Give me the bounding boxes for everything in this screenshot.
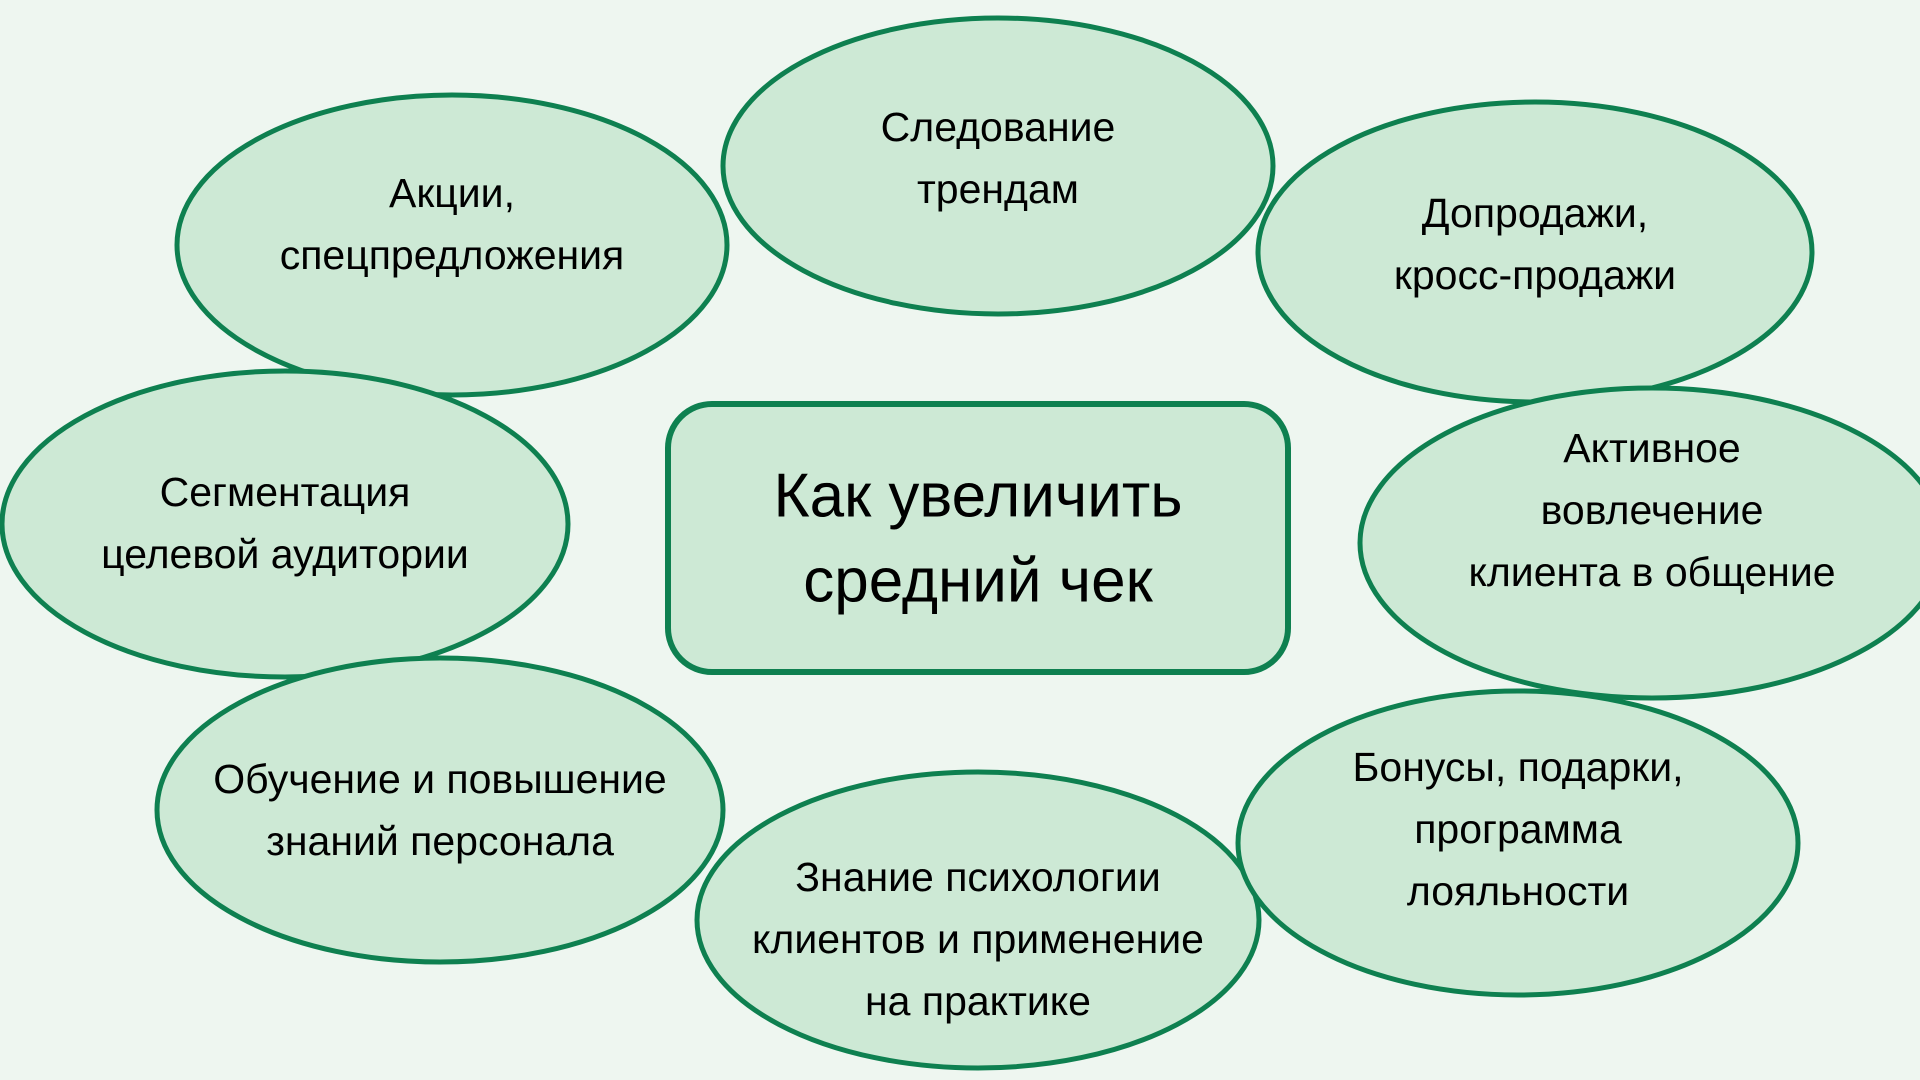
node-psihologiya[interactable]: Знание психологии клиентов и применение … xyxy=(697,772,1259,1068)
node-doprodazhi-line-1: Допродажи, xyxy=(1422,190,1648,236)
node-vovlechenie[interactable]: Активное вовлечение клиента в общение xyxy=(1360,388,1920,698)
node-trendy-line-1: Следование xyxy=(881,104,1116,150)
node-vovlechenie-line-2: вовлечение xyxy=(1541,487,1764,533)
node-obuchenie-line-2: знаний персонала xyxy=(266,818,614,864)
node-trendy[interactable]: Следование трендам xyxy=(723,18,1273,314)
node-psihologiya-line-3: на практике xyxy=(865,978,1091,1024)
diagram-canvas: Акции, спецпредложения Следование тренда… xyxy=(0,0,1920,1080)
node-segmentaciya-ellipse[interactable] xyxy=(2,371,568,677)
node-obuchenie-line-1: Обучение и повышение xyxy=(213,756,666,802)
center-node-line-2: средний чек xyxy=(803,546,1153,615)
node-bonusy-line-2: программа xyxy=(1414,806,1622,852)
mindmap-diagram: Акции, спецпредложения Следование тренда… xyxy=(0,0,1920,1080)
node-vovlechenie-line-3: клиента в общение xyxy=(1468,549,1835,595)
center-node[interactable]: Как увеличить средний чек xyxy=(668,404,1288,672)
node-psihologiya-line-2: клиентов и применение xyxy=(752,916,1204,962)
node-segmentaciya-line-2: целевой аудитории xyxy=(101,531,469,577)
node-akcii-line-2: спецпредложения xyxy=(280,232,625,278)
node-akcii-line-1: Акции, xyxy=(389,170,515,216)
node-segmentaciya[interactable]: Сегментация целевой аудитории xyxy=(2,371,568,677)
node-obuchenie[interactable]: Обучение и повышение знаний персонала xyxy=(157,658,723,962)
node-akcii[interactable]: Акции, спецпредложения xyxy=(177,95,727,395)
center-node-line-1: Как увеличить xyxy=(773,461,1182,530)
node-doprodazhi[interactable]: Допродажи, кросс-продажи xyxy=(1258,102,1812,402)
center-node-box[interactable] xyxy=(668,404,1288,672)
node-bonusy-line-1: Бонусы, подарки, xyxy=(1352,744,1683,790)
node-psihologiya-line-1: Знание психологии xyxy=(795,854,1160,900)
node-vovlechenie-line-1: Активное xyxy=(1563,425,1740,471)
node-bonusy-line-3: лояльности xyxy=(1407,868,1629,914)
node-trendy-line-2: трендам xyxy=(917,166,1079,212)
node-segmentaciya-line-1: Сегментация xyxy=(160,469,411,515)
node-bonusy[interactable]: Бонусы, подарки, программа лояльности xyxy=(1238,691,1798,995)
node-doprodazhi-line-2: кросс-продажи xyxy=(1394,252,1676,298)
node-obuchenie-ellipse[interactable] xyxy=(157,658,723,962)
